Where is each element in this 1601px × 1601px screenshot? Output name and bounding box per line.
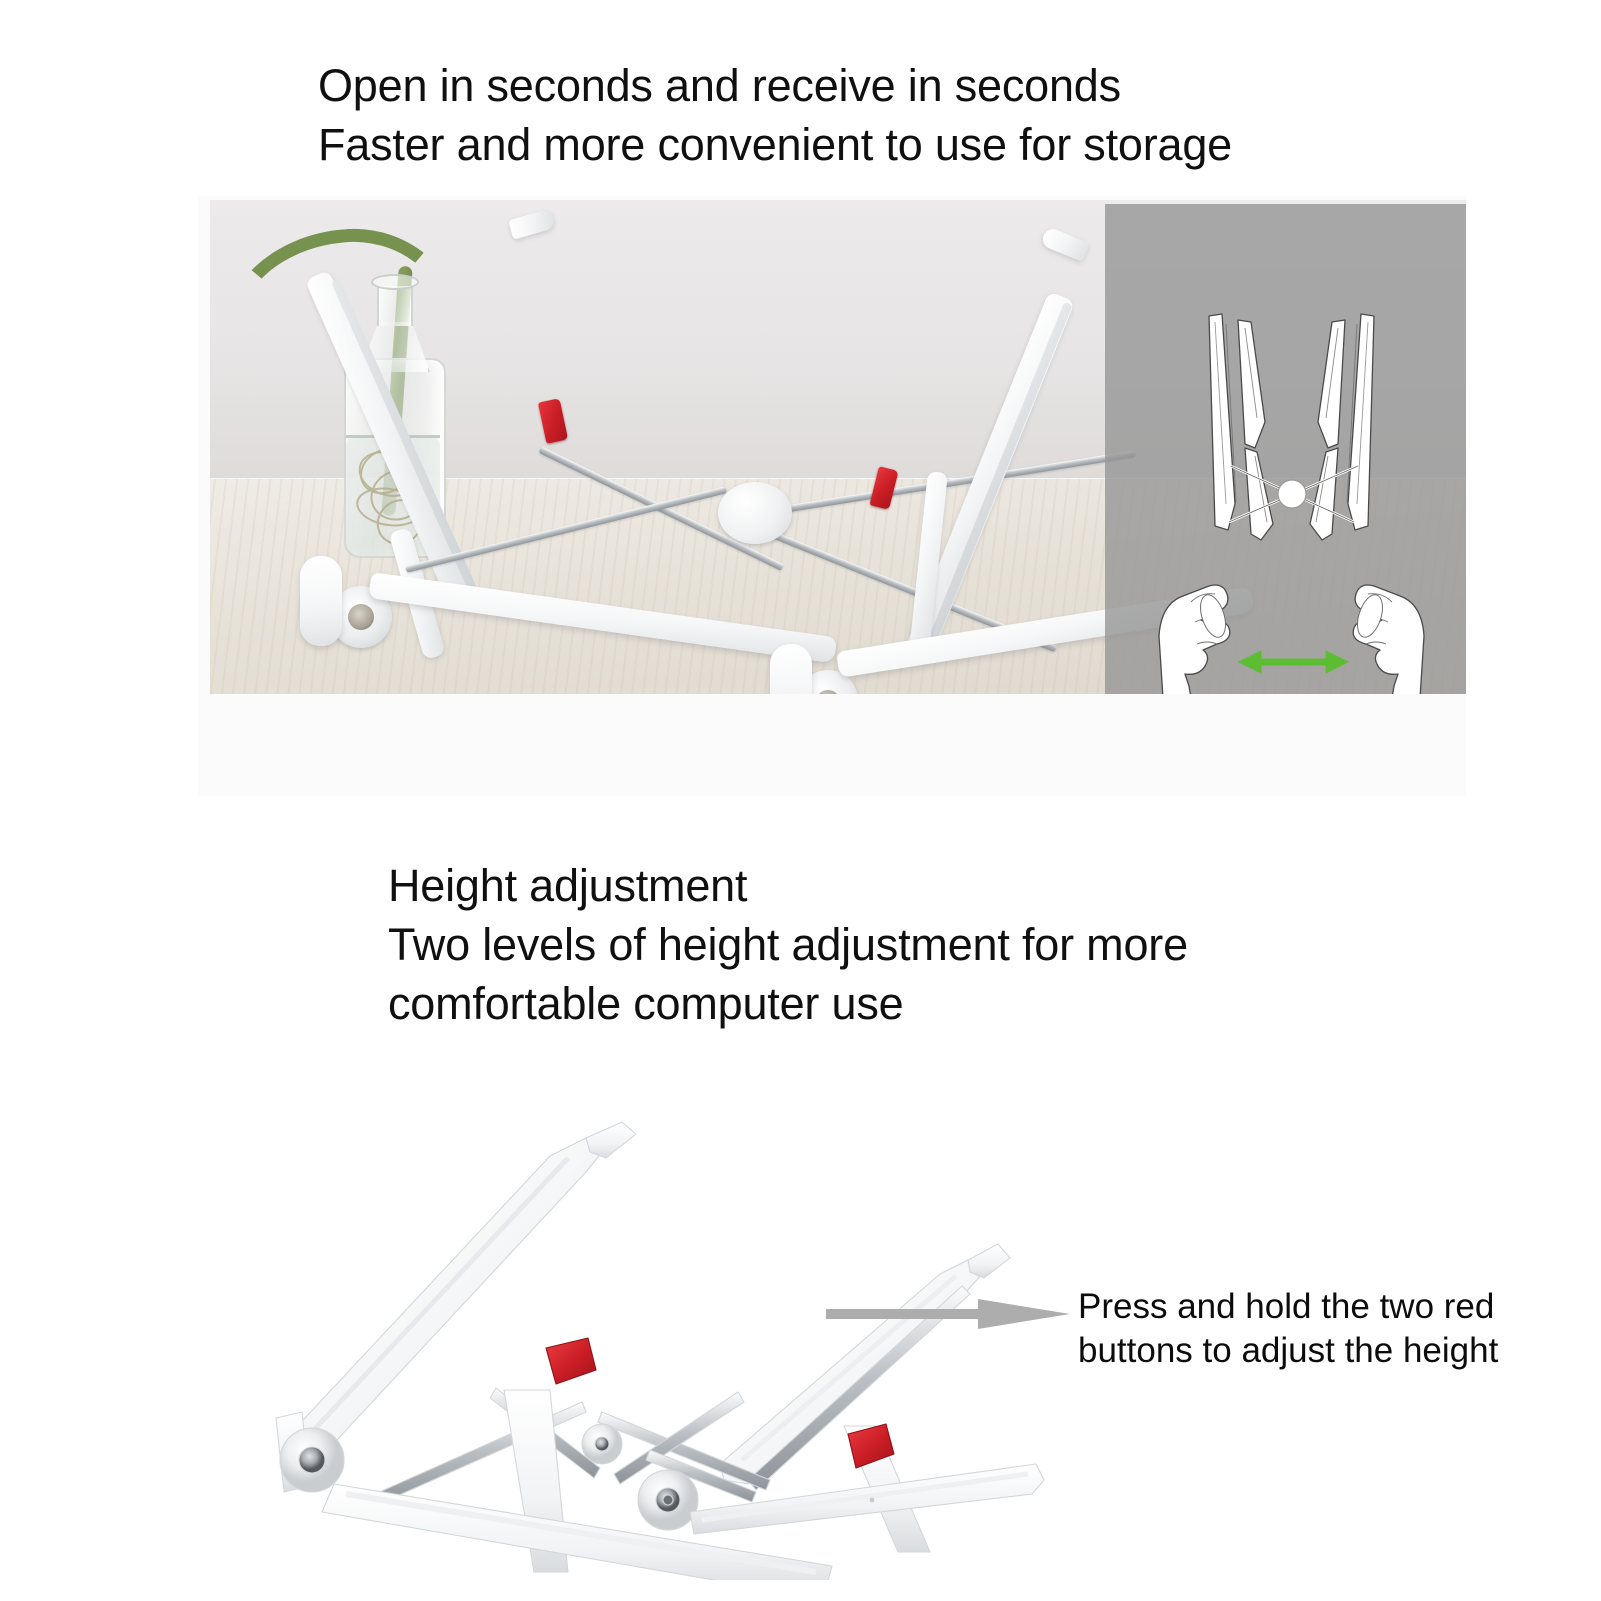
page-title-middle: Height adjustment Two levels of height a… [388,856,1188,1033]
fold-instruction-illustration [1105,204,1466,694]
stand-right-top-arm [720,1260,982,1484]
stand-left-end-cap [300,556,342,646]
spread-direction-arrow [1239,651,1348,673]
stand-right-upper-arm-edge [924,302,1072,652]
red-release-button-left [546,1338,596,1384]
stand-left-hinge-pin [299,1447,325,1473]
red-release-button-right[interactable] [869,466,898,510]
page-title-top: Open in seconds and receive in seconds F… [318,56,1232,174]
lifestyle-photo-stand-open [210,200,1466,694]
top-panel [198,196,1466,796]
fold-instruction-overlay [1105,204,1466,694]
stand-right-arm-hook [968,1244,1010,1278]
stand-right-end-cap [770,644,812,694]
stand-support-rod-left-lower [405,486,727,573]
stand-center-pivot [718,482,792,544]
stand-left-arm-tip [508,208,556,239]
stand-left-arm-hook [586,1122,636,1158]
arrow-right-icon [826,1297,1070,1331]
center-pivot-pin [595,1437,609,1451]
stand-left-hinge-pin [348,604,374,630]
red-release-button-left[interactable] [538,398,568,444]
callout-annotation-text: Press and hold the two red buttons to ad… [1078,1285,1518,1373]
stand-right-arm-tip [1040,226,1090,262]
callout-arrow [826,1297,1070,1331]
